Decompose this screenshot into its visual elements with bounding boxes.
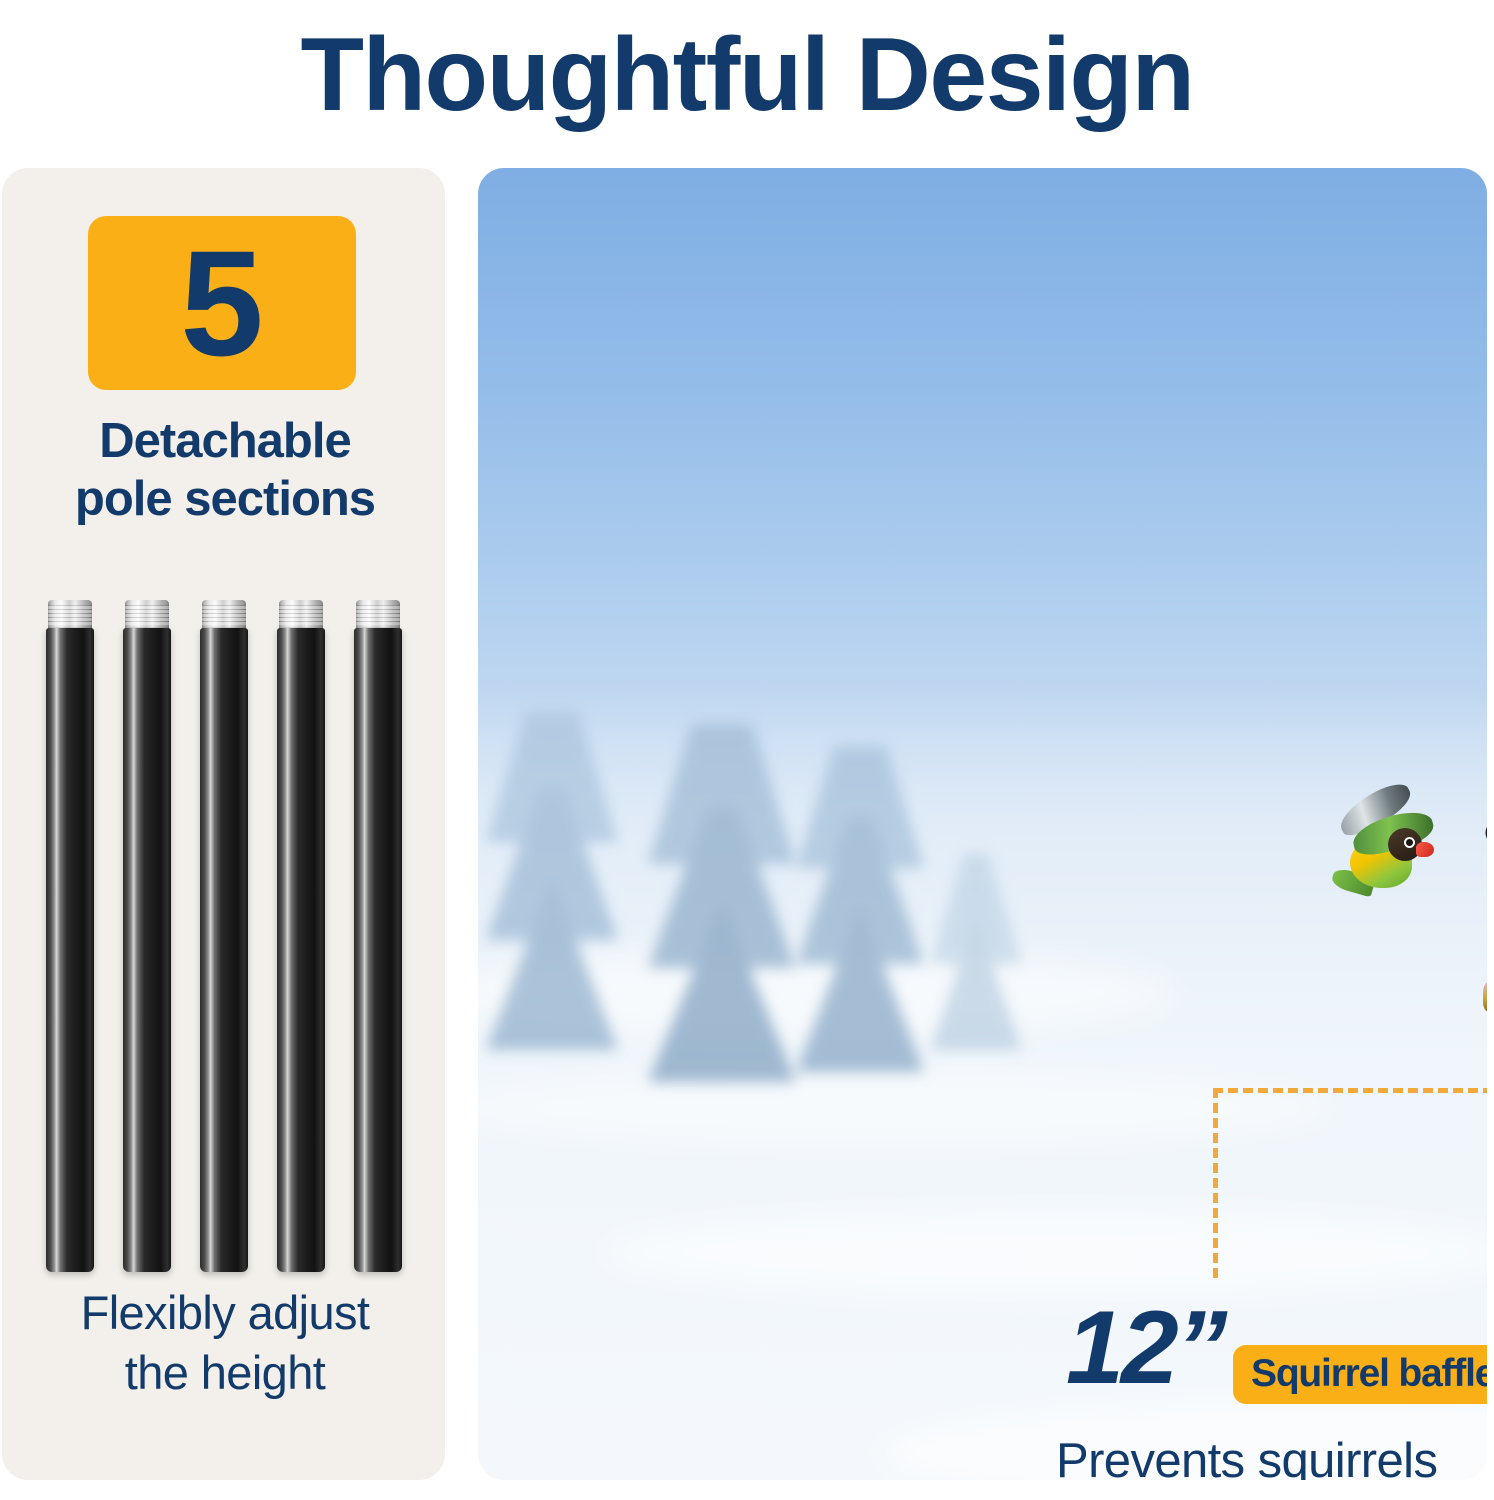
pole-section [277,600,325,1272]
feeder-flower-base [1483,982,1487,1012]
pole-count-badge-number: 5 [180,228,263,378]
pole-section [354,600,402,1272]
blurred-pine-tree [930,854,1022,1050]
squirrel-baffle-photo-card: 12” Squirrel baffle Prevents squirrels o… [478,168,1487,1480]
pole-threaded-cap-icon [279,600,323,630]
lovebird-eye [1404,837,1415,848]
pole-threaded-cap-icon [48,600,92,630]
baffle-leader-line [1213,1088,1487,1278]
left-card-footer: Flexibly adjust the height [10,1283,440,1403]
squirrel-baffle-badge: Squirrel baffle [1233,1345,1487,1404]
pole-section [46,600,94,1272]
leader-horizontal [1213,1088,1487,1093]
page-title: Thoughtful Design [0,0,1494,150]
pole-threaded-cap-icon [125,600,169,630]
pole-section [200,600,248,1272]
pole-threaded-cap-icon [202,600,246,630]
page-title-text: Thoughtful Design [301,23,1194,127]
left-card-footer-line2: the height [10,1343,440,1403]
masked-lovebird [1330,794,1450,912]
pole-body [200,628,248,1272]
pole-body [123,628,171,1272]
baffle-measurement: 12” [1066,1296,1225,1400]
left-card-heading: Detachable pole sections [18,412,432,528]
pole-body [354,628,402,1272]
left-card-heading-line2: pole sections [18,470,432,528]
snow-drift [478,1068,1338,1148]
pole-count-badge: 5 [88,216,356,390]
right-card-footer-line1: Prevents squirrels [1056,1430,1487,1480]
right-card-footer: Prevents squirrels or other animals [1056,1430,1487,1480]
detachable-poles-card: 5 Detachable pole sections Flexibly adju… [2,168,445,1480]
pole-sections-illustration [2,588,445,1288]
hummingbird-nectar-feeder [1481,868,1487,1028]
lovebird-beak [1416,842,1434,857]
pole-threaded-cap-icon [356,600,400,630]
pole-body [46,628,94,1272]
blurred-pine-tree [648,724,796,1082]
leader-vertical [1213,1088,1218,1278]
blurred-pine-tree [796,746,924,1072]
left-card-footer-line1: Flexibly adjust [10,1283,440,1343]
pole-body [277,628,325,1272]
pole-section [123,600,171,1272]
left-card-heading-line1: Detachable [18,412,432,470]
blurred-pine-tree [486,712,618,1050]
